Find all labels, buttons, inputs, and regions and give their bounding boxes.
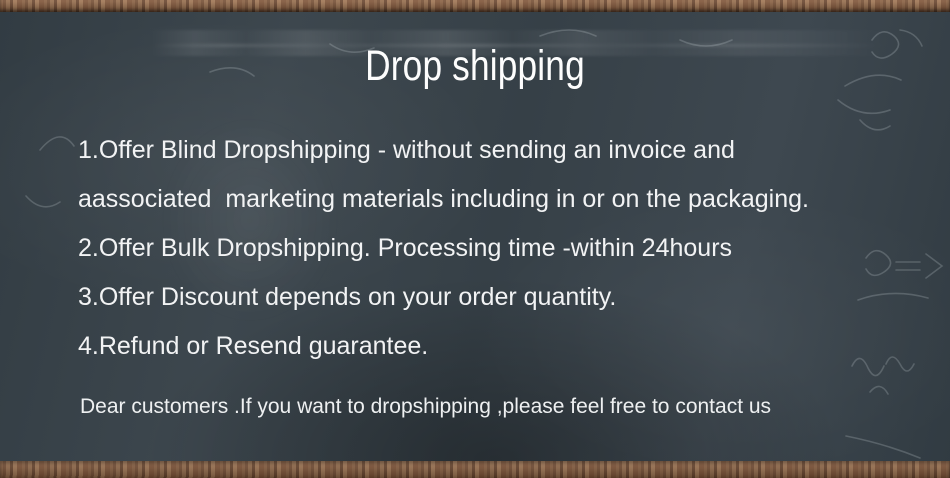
policy-list: 1.Offer Blind Dropshipping - without sen… [78, 126, 928, 371]
policy-line-4: 4.Refund or Resend guarantee. [78, 322, 928, 371]
dropshipping-banner: Drop shipping 1.Offer Blind Dropshipping… [0, 0, 950, 478]
contact-footer-text: Dear customers .If you want to dropshipp… [80, 393, 771, 421]
banner-content: Drop shipping 1.Offer Blind Dropshipping… [0, 0, 950, 478]
policy-line-2: 2.Offer Bulk Dropshipping. Processing ti… [78, 224, 928, 273]
policy-line-1: 1.Offer Blind Dropshipping - without sen… [78, 126, 928, 175]
policy-line-3: 3.Offer Discount depends on your order q… [78, 273, 928, 322]
banner-title: Drop shipping [86, 41, 865, 91]
policy-line-1-continued: aassociated marketing materials includin… [78, 175, 928, 224]
